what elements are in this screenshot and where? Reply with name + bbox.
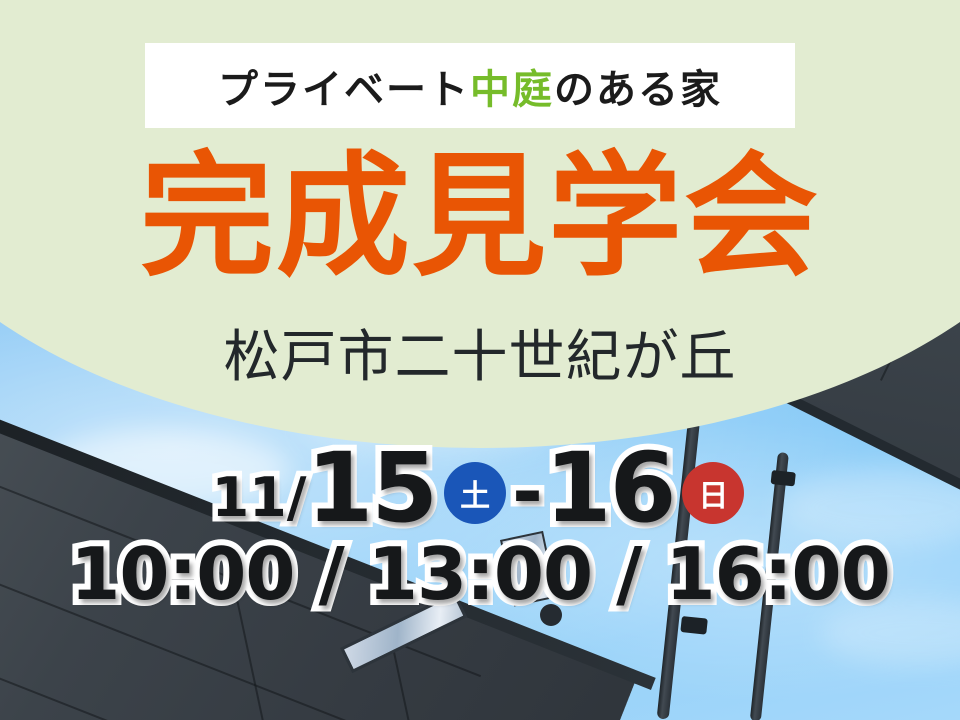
- page-title: 完成見学会: [0, 146, 960, 288]
- weekday-badge-sunday: 日: [682, 462, 744, 524]
- headline-suffix: のある家: [554, 67, 722, 113]
- poster-canvas: プライベート中庭のある家 完成見学会 松戸市二十世紀が丘 11/ 15 土 - …: [0, 0, 960, 720]
- event-day-end: 16: [545, 440, 675, 536]
- event-times-row: 10:00 / 13:00 / 16:00: [0, 538, 960, 610]
- pipe-bracket: [680, 616, 708, 635]
- event-date-row: 11/ 15 土 - 16 日: [0, 440, 960, 536]
- date-range-separator: -: [512, 455, 543, 529]
- headline-accent: 中庭: [470, 67, 554, 113]
- event-times: 10:00 / 13:00 / 16:00: [70, 532, 889, 616]
- location-subtitle: 松戸市二十世紀が丘: [0, 312, 960, 393]
- weekday-badge-saturday: 土: [444, 462, 506, 524]
- headline-prefix: プライベート: [218, 67, 470, 113]
- headline-box: プライベート中庭のある家: [145, 43, 795, 128]
- headline-text: プライベート中庭のある家: [218, 57, 722, 115]
- event-month: 11/: [212, 471, 307, 525]
- event-day-start: 15: [306, 440, 436, 536]
